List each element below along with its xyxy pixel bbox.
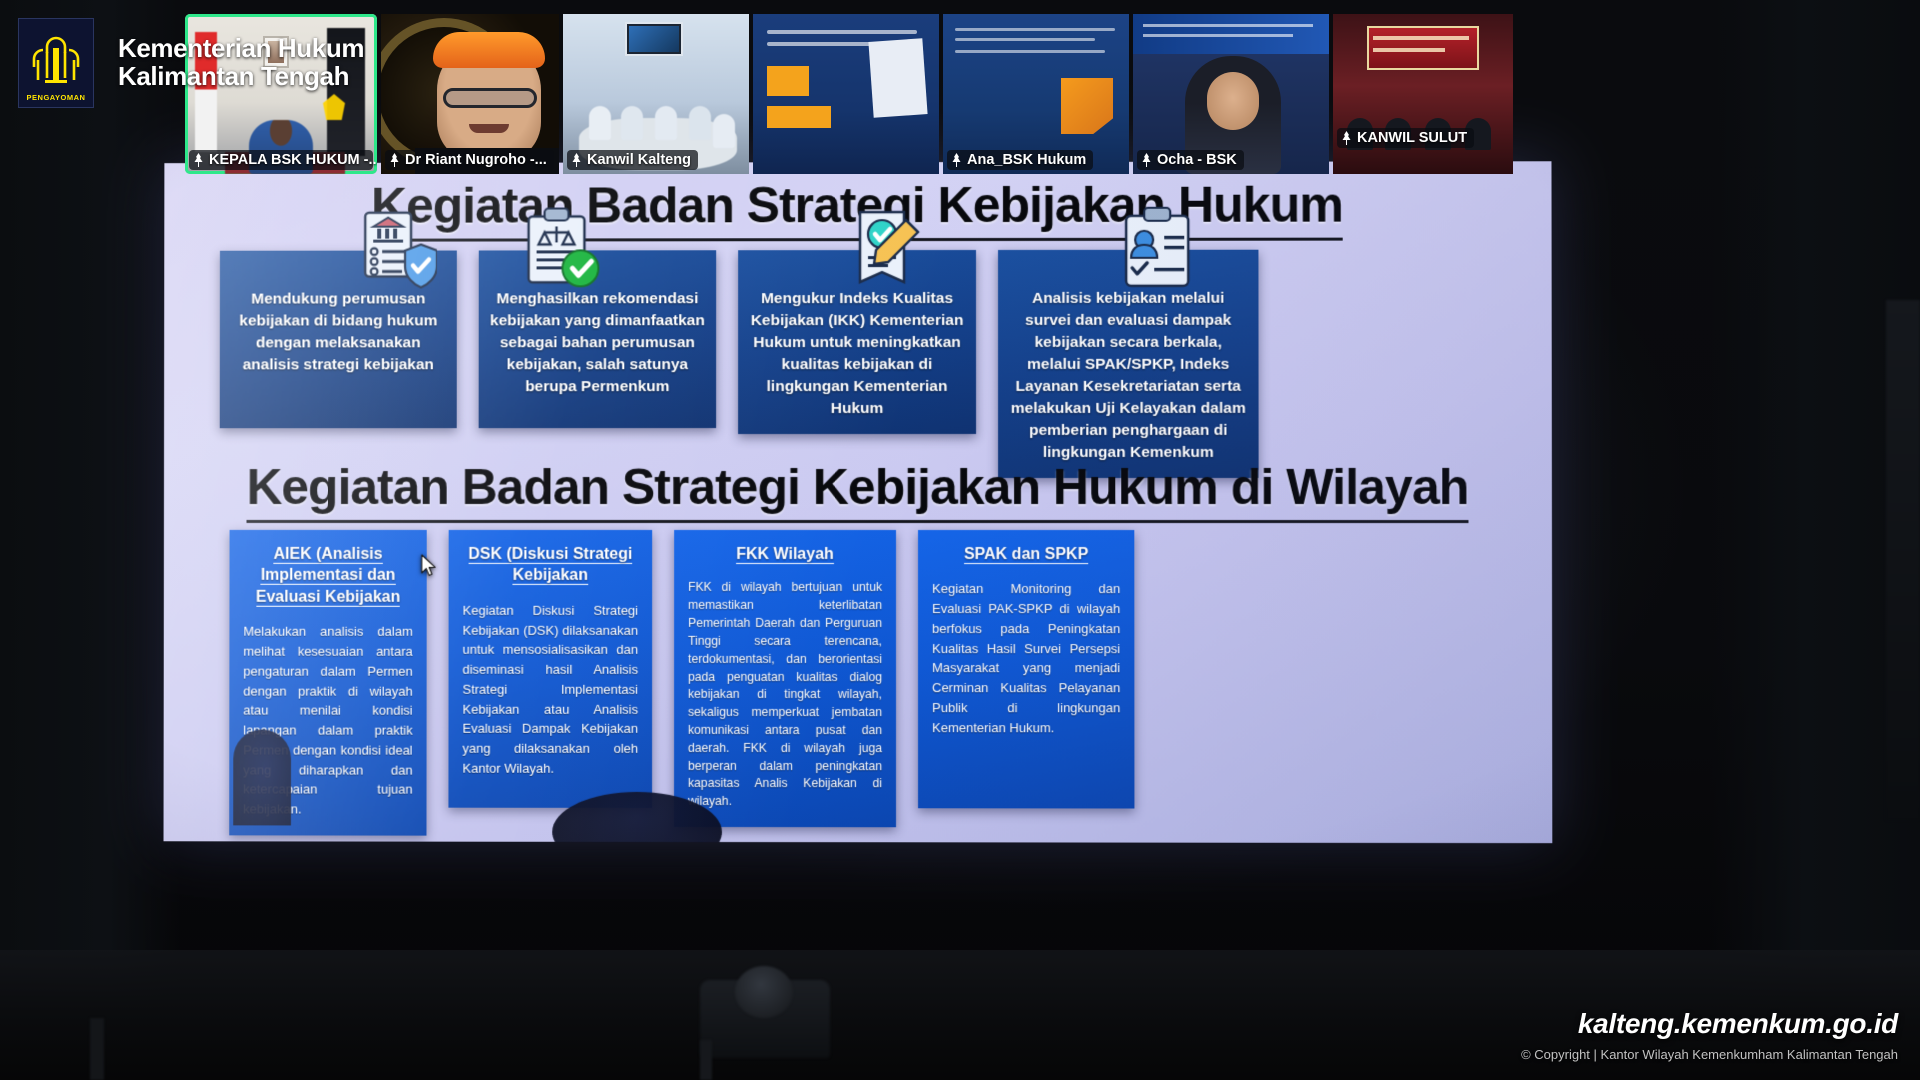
video-tile-kanwil-kalteng[interactable]: Kanwil Kalteng (563, 14, 749, 174)
participant-name: Ocha - BSK (1157, 152, 1237, 168)
desk-leg (90, 1018, 104, 1080)
tv-screen (629, 26, 679, 52)
video-filmstrip: KEPALA BSK HUKUM -... Dr Riant Nugroho -… (185, 14, 1513, 174)
slide-block (767, 66, 809, 96)
video-tile-kanwil-sulut[interactable]: KANWIL SULUT (1333, 14, 1513, 174)
video-tile-ana-bsk-hukum[interactable]: Ana_BSK Hukum (943, 14, 1129, 174)
mouth (469, 124, 509, 133)
participant-name: KEPALA BSK HUKUM -... (209, 152, 377, 168)
bottom-card-fkk-heading-text: FKK Wilayah (736, 546, 834, 564)
top-card-2: Menghasilkan rekomendasi kebijakan yang … (479, 250, 717, 428)
pin-icon (389, 153, 400, 167)
participant-name: Ana_BSK Hukum (967, 152, 1086, 168)
top-card-4: Analisis kebijakan melalui survei dan ev… (998, 250, 1259, 478)
participant-name: Dr Riant Nugroho -... (405, 152, 547, 168)
slide-line (955, 38, 1095, 41)
brand-header: PENGAYOMAN Kementerian Hukum Kalimantan … (18, 18, 364, 108)
bottom-card-fkk: FKK Wilayah FKK di wilayah bertujuan unt… (674, 530, 896, 827)
foreground-silhouette-left (233, 730, 291, 826)
video-tile-document-slide[interactable] (753, 14, 939, 174)
attendee (589, 106, 611, 140)
bottom-card-spak-body: Kegiatan Monitoring dan Evaluasi PAK-SPK… (932, 579, 1120, 737)
slide-line (1143, 24, 1313, 27)
slide-line (1143, 34, 1293, 37)
top-card-1: Mendukung perumusan kebijakan di bidang … (220, 251, 457, 429)
bottom-card-fkk-heading: FKK Wilayah (688, 544, 882, 565)
slide-shape (1061, 78, 1113, 134)
video-tile-ocha-bsk[interactable]: Ocha - BSK (1133, 14, 1329, 174)
room-left-wall (0, 0, 180, 1080)
brand-line-1: Kementerian Hukum (118, 35, 364, 63)
mouse-cursor (421, 554, 437, 578)
top-card-2-text: Menghasilkan rekomendasi kebijakan yang … (489, 288, 707, 398)
participant-label: Kanwil Kalteng (567, 150, 698, 170)
wall-strip (1886, 300, 1920, 820)
pin-icon (1141, 153, 1152, 167)
slide-line (767, 30, 917, 34)
slide-line (955, 50, 1105, 53)
bottom-card-dsk-heading: DSK (Diskusi Strategi Kebijakan (463, 544, 639, 587)
participant-name: KANWIL SULUT (1357, 130, 1467, 146)
pengayoman-logo: PENGAYOMAN (18, 18, 94, 108)
participant-name: Kanwil Kalteng (587, 152, 691, 168)
slide-title-secondary: Kegiatan Badan Strategi Kebijakan Hukum … (164, 458, 1552, 523)
participant-label: KANWIL SULUT (1337, 128, 1474, 148)
bottom-card-fkk-body: FKK di wilayah bertujuan untuk memastika… (688, 579, 882, 811)
document-image (868, 38, 927, 118)
screen-line (1373, 36, 1469, 40)
participant-label: KEPALA BSK HUKUM -... (189, 150, 373, 170)
top-card-1-text: Mendukung perumusan kebijakan di bidang … (230, 288, 447, 376)
pin-icon (1341, 131, 1352, 145)
participant-label: Ocha - BSK (1137, 150, 1244, 170)
video-tile-dr-riant-nugroho[interactable]: Dr Riant Nugroho -... (381, 14, 559, 174)
top-card-4-text: Analisis kebijakan melalui survei dan ev… (1008, 288, 1249, 464)
certificate-pen-icon (844, 206, 930, 292)
clipboard-scales-check-icon (519, 206, 605, 292)
participant-label: Ana_BSK Hukum (947, 150, 1093, 170)
top-card-3-text: Mengukur Indeks Kualitas Kebijakan (IKK)… (748, 288, 966, 420)
bottom-card-aiek-heading: AIEK (Analisis Implementasi dan Evaluasi… (243, 544, 412, 608)
attendee (655, 106, 677, 140)
attendee (621, 106, 643, 140)
screen-line (1373, 48, 1445, 52)
slide-block (767, 106, 831, 128)
brand-title: Kementerian Hukum Kalimantan Tengah (118, 35, 364, 90)
attendee (713, 114, 735, 148)
bottom-card-spak-spkp: SPAK dan SPKP Kegiatan Monitoring dan Ev… (918, 530, 1134, 809)
document-bank-check-icon (351, 207, 437, 293)
participant-label: Dr Riant Nugroho -... (385, 150, 554, 170)
bottom-card-dsk-heading-text: DSK (Diskusi Strategi Kebijakan (468, 546, 632, 585)
bottom-card-dsk: DSK (Diskusi Strategi Kebijakan Kegiatan… (448, 530, 652, 808)
bottom-card-spak-heading-text: SPAK dan SPKP (964, 546, 1088, 564)
participant-face (1207, 72, 1259, 130)
clipboard-person-icon (1114, 206, 1200, 292)
projection-screen: Kegiatan Badan Strategi Kebijakan Hukum (164, 161, 1553, 843)
attendee (689, 106, 711, 140)
screenshot-root: PENGAYOMAN Kementerian Hukum Kalimantan … (0, 0, 1920, 1080)
desk-object-round (735, 966, 793, 1018)
desk-leg (700, 1040, 712, 1080)
pin-icon (951, 153, 962, 167)
bottom-card-dsk-body: Kegiatan Diskusi Strategi Kebijakan (DSK… (462, 601, 638, 779)
pin-icon (571, 153, 582, 167)
banyan-tree-icon (25, 30, 87, 92)
top-card-row: Mendukung perumusan kebijakan di bidang … (220, 249, 1496, 478)
bottom-card-aiek-heading-text: AIEK (Analisis Implementasi dan Evaluasi… (256, 546, 400, 607)
logo-word: PENGAYOMAN (27, 93, 86, 102)
slide-line (955, 28, 1115, 31)
bottom-card-spak-heading: SPAK dan SPKP (932, 544, 1120, 565)
eyeglasses (443, 88, 537, 108)
top-card-3: Mengukur Indeks Kualitas Kebijakan (IKK)… (738, 250, 976, 434)
site-watermark: kalteng.kemenkum.go.id (1578, 1008, 1898, 1040)
pin-icon (193, 153, 204, 167)
bottom-card-row: AIEK (Analisis Implementasi dan Evaluasi… (229, 530, 1496, 837)
orange-headband (433, 32, 545, 68)
brand-line-2: Kalimantan Tengah (118, 63, 364, 91)
slide-title-secondary-text: Kegiatan Badan Strategi Kebijakan Hukum … (246, 458, 1468, 523)
copyright-text: © Copyright | Kantor Wilayah Kemenkumham… (1521, 1047, 1898, 1062)
